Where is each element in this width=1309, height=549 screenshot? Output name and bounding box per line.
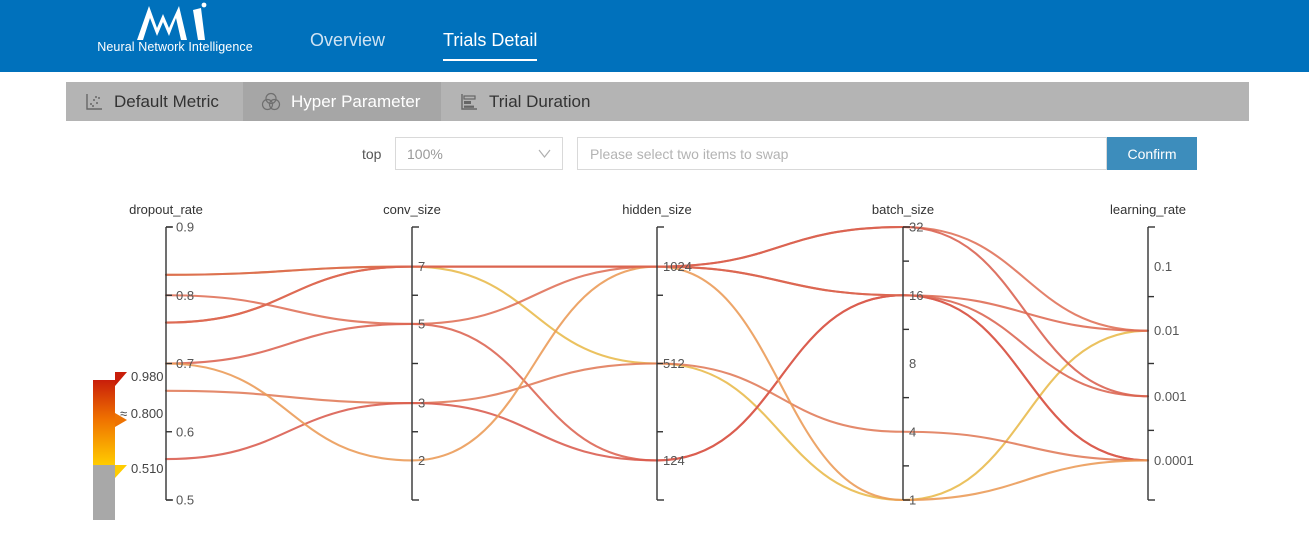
tick-label-dropout_rate: 0.8	[176, 288, 194, 303]
axes-group	[166, 227, 1155, 500]
brand-name: Neural Network Intelligence	[97, 40, 253, 54]
tab-hyper-parameter[interactable]: Hyper Parameter	[243, 82, 441, 121]
tick-label-conv_size: 2	[418, 453, 425, 468]
axis-title-conv-size: conv_size	[383, 202, 441, 217]
chevron-down-icon	[538, 149, 551, 158]
tick-label-conv_size: 7	[418, 259, 425, 274]
tab-default-metric-label: Default Metric	[114, 92, 219, 112]
tick-label-batch_size: 32	[909, 220, 923, 235]
tick-label-learning_rate: 0.001	[1154, 389, 1187, 404]
tick-label-batch_size: 1	[909, 493, 916, 508]
control-bar: top 100% Confirm	[0, 133, 1309, 178]
tick-label-conv_size: 5	[418, 316, 425, 331]
nav-item-overview[interactable]: Overview	[310, 30, 385, 59]
top-label: top	[362, 146, 381, 162]
tab-trial-duration[interactable]: Trial Duration	[441, 82, 620, 121]
axis-title-dropout-rate: dropout_rate	[129, 202, 203, 217]
tab-hyper-parameter-label: Hyper Parameter	[291, 92, 420, 112]
swap-items-input[interactable]	[577, 137, 1107, 170]
axis-title-batch-size: batch_size	[872, 202, 934, 217]
scatter-plot-icon	[84, 92, 104, 112]
tick-labels-group: 0.90.80.70.60.57532102451212432168410.10…	[176, 220, 1194, 508]
chart-canvas[interactable]: dropout_rate conv_size hidden_size batch…	[0, 178, 1309, 549]
top-percent-select[interactable]: 100%	[395, 137, 563, 170]
tick-label-learning_rate: 0.01	[1154, 323, 1179, 338]
tick-label-dropout_rate: 0.6	[176, 424, 194, 439]
tick-label-hidden_size: 512	[663, 356, 685, 371]
tick-label-hidden_size: 124	[663, 453, 685, 468]
legend-min-label: 0.510	[131, 461, 164, 476]
tick-label-learning_rate: 0.0001	[1154, 453, 1194, 468]
legend-inactive-bar	[93, 465, 115, 520]
nni-logo-icon	[135, 2, 215, 42]
tick-label-batch_size: 4	[909, 424, 916, 439]
tick-label-dropout_rate: 0.7	[176, 356, 194, 371]
tick-label-learning_rate: 0.1	[1154, 259, 1172, 274]
tick-label-batch_size: 16	[909, 288, 923, 303]
tick-label-hidden_size: 1024	[663, 259, 692, 274]
legend-max-marker	[115, 372, 127, 386]
tick-label-dropout_rate: 0.5	[176, 493, 194, 508]
confirm-button[interactable]: Confirm	[1107, 137, 1197, 170]
legend-mid-label: ≈ 0.800	[120, 406, 163, 421]
axis-title-hidden-size: hidden_size	[622, 202, 691, 217]
tick-label-dropout_rate: 0.9	[176, 220, 194, 235]
axis-title-learning-rate: learning_rate	[1110, 202, 1186, 217]
top-percent-value: 100%	[407, 146, 443, 162]
tab-default-metric[interactable]: Default Metric	[66, 82, 243, 121]
legend-gradient-bar	[93, 380, 115, 465]
tab-strip: Default Metric Hyper Parameter Trial Dur…	[66, 82, 1249, 121]
tab-trial-duration-label: Trial Duration	[489, 92, 590, 112]
venn-diagram-icon	[261, 92, 281, 112]
app-header: Neural Network Intelligence Overview Tri…	[0, 0, 1309, 72]
nav-item-trials-detail[interactable]: Trials Detail	[443, 30, 537, 61]
brand-logo[interactable]: Neural Network Intelligence	[85, 2, 265, 68]
bar-chart-icon	[459, 92, 479, 112]
legend-max-label: 0.980	[131, 369, 164, 384]
metric-color-legend[interactable]: 0.980 ≈ 0.800 0.510	[93, 369, 164, 520]
tick-label-conv_size: 3	[418, 396, 425, 411]
parallel-coordinates-chart: dropout_rate conv_size hidden_size batch…	[0, 178, 1309, 549]
legend-min-marker	[115, 465, 127, 478]
tick-label-batch_size: 8	[909, 356, 916, 371]
